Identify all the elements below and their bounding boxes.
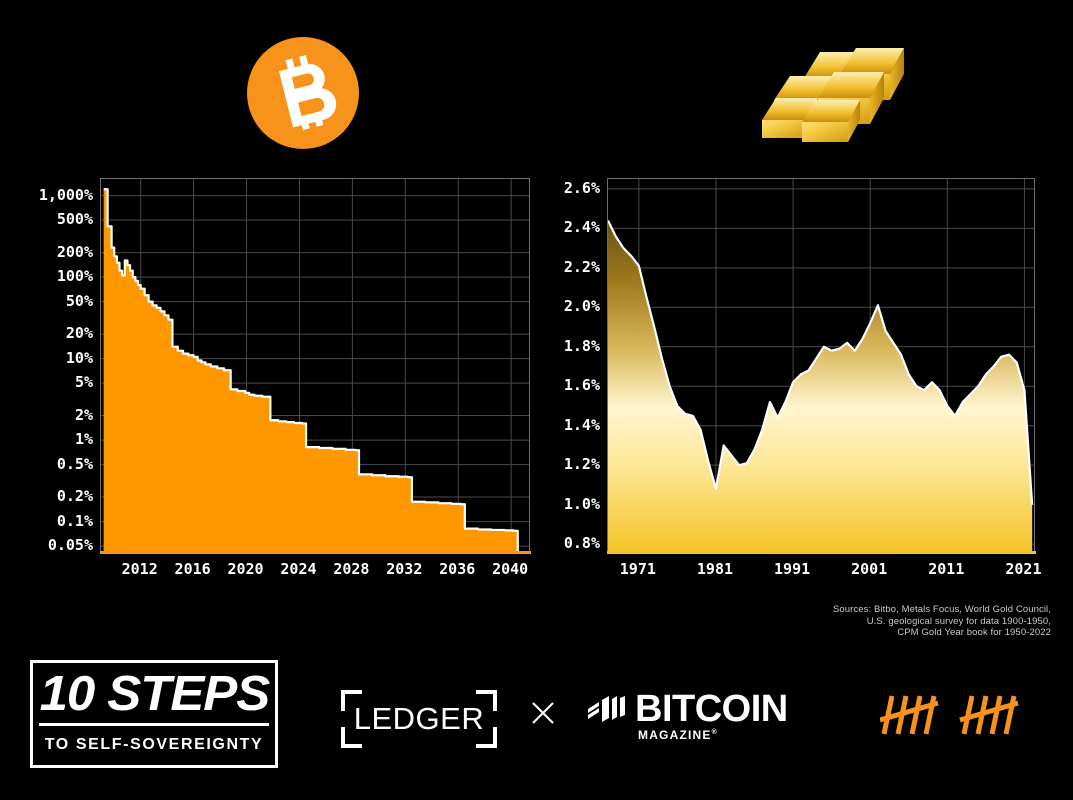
bitcoin-plot-area xyxy=(100,178,530,553)
gold-xtick-2: 1991 xyxy=(774,560,810,578)
bitcoin-ytick-13: 0.05% xyxy=(48,536,93,554)
gold-ytick-8: 1.0% xyxy=(564,495,600,513)
bitcoin-ytick-4: 50% xyxy=(66,292,93,310)
bitcoin-xtick-4: 2028 xyxy=(333,560,369,578)
registered-trademark-icon: ® xyxy=(712,729,718,736)
bitcoin-ytick-1: 500% xyxy=(57,210,93,228)
bitcoin-logo-icon xyxy=(247,37,359,149)
bitcoin-xtick-0: 2012 xyxy=(122,560,158,578)
bitcoin-ytick-10: 0.5% xyxy=(57,455,93,473)
gold-bars-icon xyxy=(748,38,920,148)
gold-xtick-5: 2021 xyxy=(1005,560,1041,578)
bitcoin-ytick-0: 1,000% xyxy=(39,186,93,204)
bitcoin-magazine-wordmark: BITCOIN xyxy=(635,690,788,728)
gold-xtick-0: 1971 xyxy=(620,560,656,578)
bitcoin-ytick-6: 10% xyxy=(66,349,93,367)
sources-line-1: Sources: Bitbo, Metals Focus, World Gold… xyxy=(833,604,1051,616)
gold-xtick-4: 2011 xyxy=(928,560,964,578)
tally-marks-icon xyxy=(880,690,1020,740)
bitcoin-xtick-7: 2040 xyxy=(492,560,528,578)
ten-steps-subtitle-row: TO SELF-SOVEREIGNTY xyxy=(39,726,269,764)
ten-steps-subtitle: TO SELF-SOVEREIGNTY xyxy=(45,736,264,754)
ledger-wordmark: LEDGER xyxy=(341,690,497,748)
gold-ytick-7: 1.2% xyxy=(564,455,600,473)
bitcoin-xtick-1: 2016 xyxy=(175,560,211,578)
gold-ytick-2: 2.2% xyxy=(564,258,600,276)
sources-line-2: U.S. geological survey for data 1900-195… xyxy=(833,616,1051,628)
bitcoin-xtick-2: 2020 xyxy=(227,560,263,578)
bitcoin-xtick-3: 2024 xyxy=(280,560,316,578)
gold-ytick-4: 1.8% xyxy=(564,337,600,355)
bitcoin-inflation-chart: 1,000%500%200%100%50%20%10%5%2%1%0.5%0.2… xyxy=(20,160,535,580)
gold-axis-baseline xyxy=(607,551,1036,554)
sources-line-3: CPM Gold Year book for 1950-2022 xyxy=(833,627,1051,639)
ten-steps-title-row: 10 STEPS xyxy=(39,668,269,726)
gold-ytick-0: 2.6% xyxy=(564,179,600,197)
gold-y-axis-labels: 2.6%2.4%2.2%2.0%1.8%1.6%1.4%1.2%1.0%0.8% xyxy=(540,178,600,553)
bitcoin-ytick-8: 2% xyxy=(75,406,93,424)
bitcoin-magazine-subtitle: MAGAZINE® xyxy=(638,728,718,742)
gold-area-series xyxy=(608,179,1035,553)
gold-ytick-5: 1.6% xyxy=(564,376,600,394)
bitcoin-area-series xyxy=(101,179,530,553)
bitcoin-magazine-mark-icon xyxy=(588,696,626,722)
infographic-stage: 1,000%500%200%100%50%20%10%5%2%1%0.5%0.2… xyxy=(0,0,1073,800)
bitcoin-area-fill xyxy=(104,189,527,553)
gold-ytick-6: 1.4% xyxy=(564,416,600,434)
gold-ytick-9: 0.8% xyxy=(564,534,600,552)
bitcoin-xtick-5: 2032 xyxy=(386,560,422,578)
collaboration-cross-icon xyxy=(530,700,556,726)
bitcoin-y-axis-labels: 1,000%500%200%100%50%20%10%5%2%1%0.5%0.2… xyxy=(20,178,93,553)
bitcoin-ytick-5: 20% xyxy=(66,324,93,342)
bitcoin-axis-baseline xyxy=(100,551,531,554)
gold-ytick-1: 2.4% xyxy=(564,218,600,236)
ledger-logo: LEDGER xyxy=(341,690,497,748)
bitcoin-ytick-2: 200% xyxy=(57,243,93,261)
bitcoin-ytick-7: 5% xyxy=(75,373,93,391)
bitcoin-magazine-subtitle-text: MAGAZINE xyxy=(638,728,712,742)
bitcoin-xtick-6: 2036 xyxy=(439,560,475,578)
sources-note: Sources: Bitbo, Metals Focus, World Gold… xyxy=(833,604,1051,639)
bitcoin-magazine-logo: BITCOIN MAGAZINE® xyxy=(588,692,803,742)
bitcoin-ytick-11: 0.2% xyxy=(57,487,93,505)
bitcoin-ytick-9: 1% xyxy=(75,430,93,448)
gold-plot-area xyxy=(607,178,1035,553)
ten-steps-title: 10 STEPS xyxy=(39,670,269,719)
gold-xtick-3: 2001 xyxy=(851,560,887,578)
gold-xtick-1: 1981 xyxy=(697,560,733,578)
ten-steps-badge: 10 STEPS TO SELF-SOVEREIGNTY xyxy=(30,660,278,768)
gold-ytick-3: 2.0% xyxy=(564,297,600,315)
bitcoin-ytick-3: 100% xyxy=(57,267,93,285)
gold-inflation-chart: 2.6%2.4%2.2%2.0%1.8%1.6%1.4%1.2%1.0%0.8%… xyxy=(540,160,1053,580)
bitcoin-ytick-12: 0.1% xyxy=(57,512,93,530)
